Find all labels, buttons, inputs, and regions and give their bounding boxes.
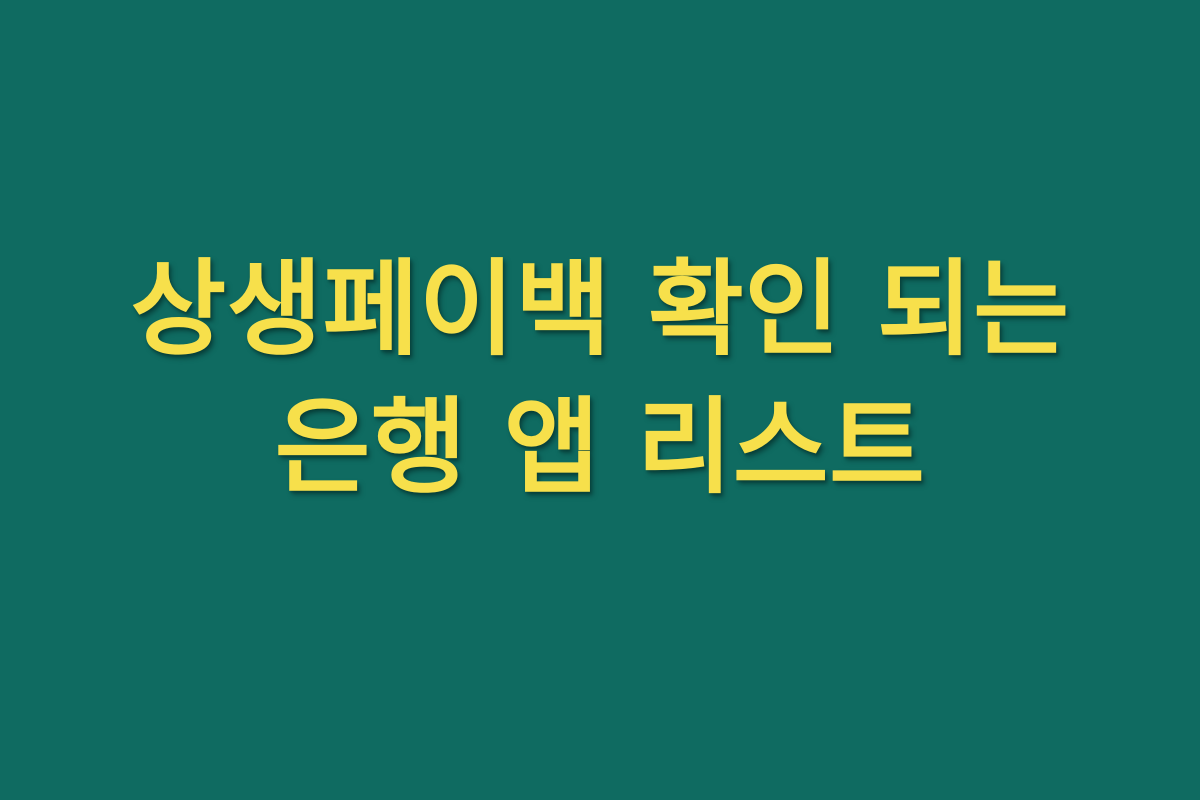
headline-line-2: 은행 앱 리스트 [40, 384, 1160, 512]
headline-line-1: 상생페이백 확인 되는 [40, 246, 1160, 374]
title-card: 상생페이백 확인 되는 은행 앱 리스트 [0, 0, 1200, 800]
headline-block: 상생페이백 확인 되는 은행 앱 리스트 [0, 246, 1200, 512]
